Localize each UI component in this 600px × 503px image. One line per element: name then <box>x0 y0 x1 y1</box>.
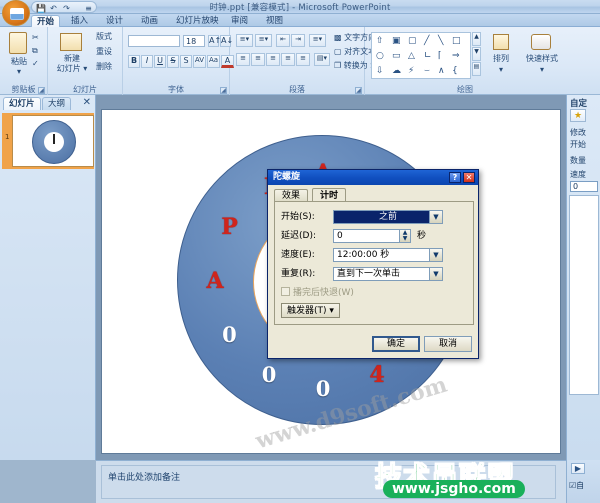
tab-insert[interactable]: 插入 <box>66 15 93 27</box>
close-pane-icon[interactable]: ✕ <box>83 97 91 109</box>
slide-thumbnail-image[interactable] <box>12 115 94 167</box>
ribbon-group-paragraph: ≡▾ ≡▾ ⇤ ⇥ ≡▾ ≡ ≡ ≡ ≡ ≡ ▤▾ ▩ 文字方向 ▾ ▢ 对齐文… <box>230 27 365 95</box>
dialog-title-bar: 陀螺旋 ? ✕ <box>268 170 478 185</box>
ribbon-tab-strip: 开始 插入 设计 动画 幻灯片放映 审阅 视图 <box>0 14 600 27</box>
field-row-start: 开始(S): 之前 ▼ <box>281 210 467 224</box>
ribbon-group-slides: 新建 幻灯片 ▾ 版式 重设 删除 幻灯片 <box>48 27 123 95</box>
tab-slideshow[interactable]: 幻灯片放映 <box>171 15 224 27</box>
trigger-button[interactable]: 触发器(T) ▾ <box>281 303 340 318</box>
quick-styles-icon[interactable] <box>531 34 551 50</box>
format-painter-icon[interactable]: ✓ <box>32 59 39 69</box>
align-left-button[interactable]: ≡ <box>236 53 250 66</box>
delay-spinner[interactable]: 0 ▲▼ <box>333 229 411 243</box>
delay-unit: 秒 <box>417 229 426 243</box>
group-label-drawing: 绘图 <box>365 85 565 95</box>
group-label-slides: 幻灯片 <box>48 85 122 95</box>
tab-home[interactable]: 开始 <box>31 15 60 27</box>
ribbon-group-font: 18 A↑ A↓ B I U S S AV Aa A 字体 ◢ <box>123 27 230 95</box>
rewind-label: 播完后快退(W) <box>293 288 354 298</box>
field-row-repeat: 重复(R): 直到下一次单击 ▼ <box>281 267 467 281</box>
trigger-label: 触发器(T) <box>287 306 327 316</box>
font-family-input[interactable] <box>128 35 180 47</box>
thumbnail-clock-donut <box>32 120 76 164</box>
label-delay: 延迟(D): <box>281 229 316 243</box>
italic-button[interactable]: I <box>141 55 153 68</box>
quick-styles-dropdown-arrow[interactable]: ▾ <box>523 65 561 74</box>
slide-number: 1 <box>5 133 9 141</box>
window-title: 时钟.ppt [兼容模式] - Microsoft PowerPoint <box>0 1 600 13</box>
align-center-button[interactable]: ≡ <box>251 53 265 66</box>
pane-tab-outline[interactable]: 大纲 <box>42 97 71 110</box>
label-speed: 速度 <box>570 169 586 180</box>
repeat-value: 直到下一次单击 <box>337 269 400 279</box>
field-row-speed: 速度(E): 12:00:00 秒 ▼ <box>281 248 467 262</box>
arrange-icon[interactable] <box>493 34 509 50</box>
label-start: 开始 <box>570 139 586 150</box>
ribbon: 粘贴 ▾ ✂ ⧉ ✓ 剪贴板 ◢ 新建 幻灯片 ▾ 版式 重设 删除 幻灯片 1… <box>0 27 600 95</box>
label-modify: 修改 <box>570 127 586 138</box>
paragraph-dialog-launcher[interactable]: ◢ <box>355 87 362 94</box>
clock-mark: 4 <box>366 364 388 386</box>
increase-font-size-button[interactable]: A↑ <box>208 35 219 47</box>
left-bottom-filler <box>0 460 96 503</box>
help-icon[interactable]: ? <box>449 172 461 183</box>
rewind-checkbox[interactable]: 播完后快退(W) <box>281 287 354 299</box>
align-right-button[interactable]: ≡ <box>266 53 280 66</box>
new-slide-button-line2[interactable]: 幻灯片 ▾ <box>50 64 94 73</box>
quick-styles-button[interactable]: 快速样式 <box>523 54 561 63</box>
line-spacing-button[interactable]: ≡▾ <box>309 34 326 47</box>
columns-button[interactable]: ▤▾ <box>314 53 330 66</box>
strikethrough-button[interactable]: S <box>167 55 179 68</box>
new-slide-icon[interactable] <box>60 33 82 51</box>
ok-button[interactable]: 确定 <box>372 336 420 352</box>
slide-thumbnail-item[interactable]: 1 <box>2 113 94 169</box>
dialog-body: 开始(S): 之前 ▼ 延迟(D): 0 ▲▼ 秒 速度(E): 12:00: <box>274 201 474 325</box>
close-icon[interactable]: ✕ <box>463 172 475 183</box>
chevron-down-icon[interactable]: ▼ <box>429 249 442 261</box>
start-combo[interactable]: 之前 ▼ <box>333 210 443 224</box>
field-row-delay: 延迟(D): 0 ▲▼ 秒 <box>281 229 467 243</box>
delay-value: 0 <box>337 231 343 241</box>
justify-button[interactable]: ≡ <box>281 53 295 66</box>
checkbox-box-icon[interactable] <box>281 287 290 296</box>
distribute-button[interactable]: ≡ <box>296 53 310 66</box>
cancel-button[interactable]: 取消 <box>424 336 472 352</box>
pane-title: 自定 <box>570 97 587 109</box>
powerpoint-window: 💾 ↶ ↷ ≡ 时钟.ppt [兼容模式] - Microsoft PowerP… <box>0 0 600 503</box>
slides-pane: 幻灯片 大纲 ✕ 1 <box>0 95 96 460</box>
play-button[interactable]: ▶ <box>571 463 585 474</box>
decrease-indent-button[interactable]: ⇤ <box>276 34 290 47</box>
underline-button[interactable]: U <box>154 55 166 68</box>
paste-button[interactable]: 粘贴 <box>2 57 36 66</box>
url-watermark: www.jsgho.com <box>383 480 525 498</box>
font-size-input[interactable]: 18 <box>183 35 205 47</box>
character-spacing-button[interactable]: AV <box>193 55 206 68</box>
label-start: 开始(S): <box>281 210 315 224</box>
repeat-combo[interactable]: 直到下一次单击 ▼ <box>333 267 443 281</box>
paste-icon[interactable] <box>9 32 27 54</box>
spinner-icon[interactable]: ▲▼ <box>399 230 410 242</box>
bold-button[interactable]: B <box>128 55 140 68</box>
ribbon-group-drawing: ⇧ ▣ ▢ ╱ ╲ □ ○ ▭ △ ∟ ⌈ ⇒ ⇩ ☁ ⚡ ⌣ ∧ { ▲ ▼ <box>365 27 600 95</box>
bullets-button[interactable]: ≡▾ <box>236 34 253 47</box>
increase-indent-button[interactable]: ⇥ <box>291 34 305 47</box>
clock-mark: A <box>204 270 226 292</box>
delete-button[interactable]: 删除 <box>96 62 112 72</box>
change-case-button[interactable]: Aa <box>207 55 220 68</box>
reset-button[interactable]: 重设 <box>96 47 112 57</box>
cut-icon[interactable]: ✂ <box>32 33 39 43</box>
tab-design[interactable]: 设计 <box>101 15 128 27</box>
speed-combo[interactable]: 12:00:00 秒 ▼ <box>333 248 443 262</box>
group-label-font: 字体 <box>123 85 229 95</box>
pane-tab-slides[interactable]: 幻灯片 <box>3 97 41 110</box>
start-combo-value: 之前 <box>334 211 442 223</box>
right-bottom-filler: ▶ ☑自 <box>566 460 600 503</box>
office-button[interactable] <box>2 0 30 26</box>
chevron-down-icon[interactable]: ▼ <box>429 211 442 223</box>
tab-review[interactable]: 审阅 <box>226 15 253 27</box>
label-amount: 数量 <box>570 155 586 166</box>
animation-value-field[interactable]: 0 <box>570 181 598 192</box>
custom-animation-pane: 自定 ★ 修改 开始 数量 速度 0 <box>566 95 600 460</box>
shapes-gallery[interactable]: ⇧ ▣ ▢ ╱ ╲ □ ○ ▭ △ ∟ ⌈ ⇒ ⇩ ☁ ⚡ ⌣ ∧ { <box>371 32 471 79</box>
clock-mark: 0 <box>258 364 280 386</box>
office-orb-icon <box>10 8 24 20</box>
numbering-button[interactable]: ≡▾ <box>255 34 272 47</box>
font-dialog-launcher[interactable]: ◢ <box>220 87 227 94</box>
label-speed: 速度(E): <box>281 248 315 262</box>
speed-value: 12:00:00 秒 <box>337 250 389 260</box>
group-label-paragraph: 段落 <box>230 85 364 95</box>
tab-view[interactable]: 视图 <box>261 15 288 27</box>
arrange-button[interactable]: 排列 <box>485 54 517 63</box>
shadow-button[interactable]: S <box>180 55 192 68</box>
ribbon-group-clipboard: 粘贴 ▾ ✂ ⧉ ✓ 剪贴板 ◢ <box>0 27 48 95</box>
auto-preview-checkbox[interactable]: ☑自 <box>569 480 584 491</box>
gyroscope-effect-dialog[interactable]: 陀螺旋 ? ✕ 效果 计时 开始(S): 之前 ▼ 延迟(D): 0 ▲ <box>267 169 479 359</box>
arrange-dropdown-arrow[interactable]: ▾ <box>485 65 517 74</box>
tab-animation[interactable]: 动画 <box>136 15 163 27</box>
dialog-tab-timing[interactable]: 计时 <box>312 188 346 202</box>
new-slide-button[interactable]: 新建 <box>50 54 94 63</box>
thumbnail-clock-hand <box>53 134 55 144</box>
dialog-title-text: 陀螺旋 <box>273 172 300 182</box>
shapes-scroll-down-button[interactable]: ▼ <box>472 47 481 61</box>
shapes-more-button[interactable]: ▤ <box>472 62 481 76</box>
clock-mark: 0 <box>218 324 240 346</box>
copy-icon[interactable]: ⧉ <box>32 46 38 56</box>
chevron-down-icon[interactable]: ▼ <box>429 268 442 280</box>
label-repeat: 重复(R): <box>281 267 315 281</box>
layout-button[interactable]: 版式 <box>96 32 112 42</box>
star-icon[interactable]: ★ <box>570 109 586 122</box>
clock-mark: P <box>218 216 240 238</box>
paste-dropdown-arrow[interactable]: ▾ <box>2 67 36 76</box>
clock-mark: 0 <box>312 378 334 400</box>
animation-list[interactable] <box>569 195 599 395</box>
shapes-scroll-up-button[interactable]: ▲ <box>472 32 481 46</box>
title-bar: 💾 ↶ ↷ ≡ 时钟.ppt [兼容模式] - Microsoft PowerP… <box>0 0 600 14</box>
clipboard-dialog-launcher[interactable]: ◢ <box>38 87 45 94</box>
